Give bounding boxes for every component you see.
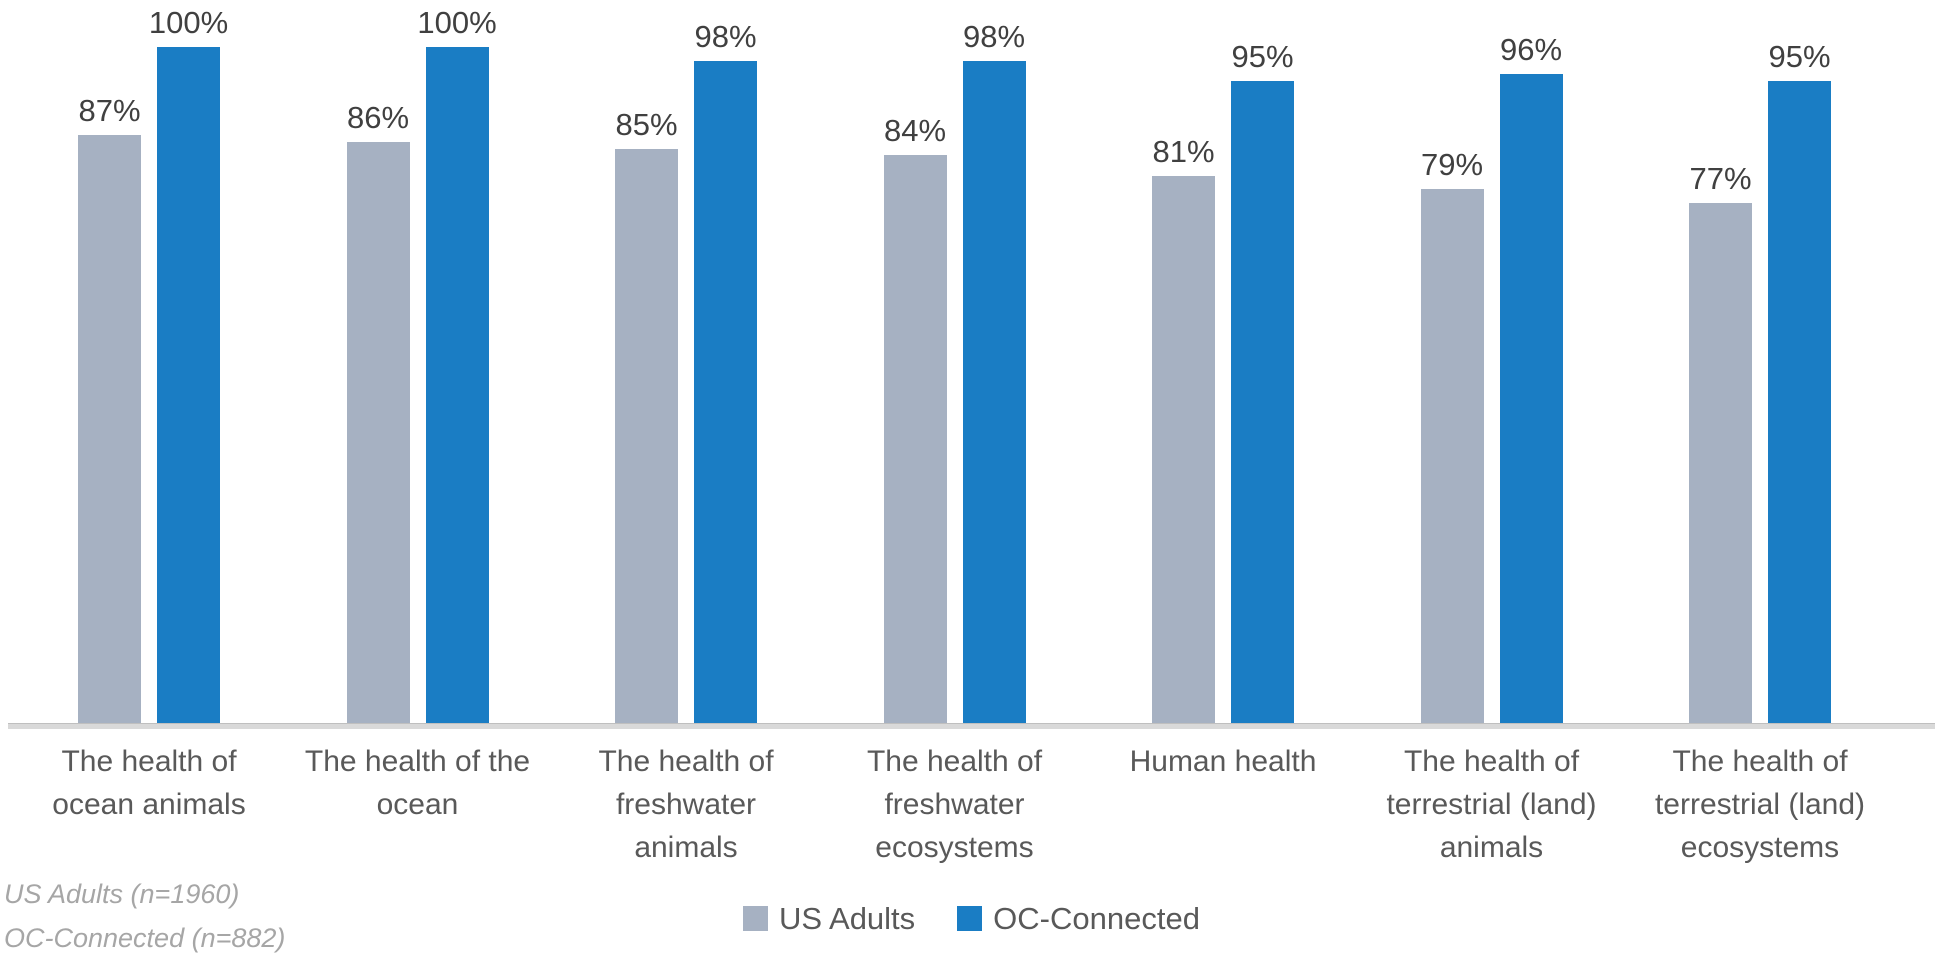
- legend-item-oc-connected[interactable]: OC-Connected: [957, 903, 1200, 934]
- category-label-line: ocean: [284, 783, 552, 826]
- bar-group: 85%98%: [615, 0, 757, 723]
- category-label-line: freshwater: [821, 783, 1089, 826]
- bar-group: 84%98%: [884, 0, 1026, 723]
- category-label-line: freshwater: [552, 783, 820, 826]
- category-label: The health ofocean animals: [15, 740, 283, 826]
- bar-us-adults[interactable]: 85%: [615, 149, 678, 723]
- category-label-line: The health of: [1358, 740, 1626, 783]
- bar-value-label: 96%: [1500, 34, 1562, 65]
- bar-chart: 87%100%86%100%85%98%84%98%81%95%79%96%77…: [0, 0, 1943, 968]
- legend-swatch-icon: [743, 906, 768, 931]
- bar-group: 81%95%: [1152, 0, 1294, 723]
- bar-us-adults[interactable]: 84%: [884, 155, 947, 723]
- bar-oc-connected[interactable]: 95%: [1231, 81, 1294, 723]
- legend-label: US Adults: [779, 903, 915, 934]
- bar-value-label: 98%: [963, 21, 1025, 52]
- category-label-line: terrestrial (land): [1626, 783, 1894, 826]
- category-label: The health of theocean: [284, 740, 552, 826]
- bar-value-label: 86%: [347, 102, 409, 133]
- bar-oc-connected[interactable]: 96%: [1500, 74, 1563, 723]
- bar-value-label: 79%: [1421, 149, 1483, 180]
- category-label-line: The health of: [821, 740, 1089, 783]
- bar-value-label: 100%: [149, 7, 228, 38]
- legend-swatch-icon: [957, 906, 982, 931]
- category-label-line: terrestrial (land): [1358, 783, 1626, 826]
- bar-value-label: 95%: [1231, 41, 1293, 72]
- bar-value-label: 100%: [417, 7, 496, 38]
- bar-us-adults[interactable]: 86%: [347, 142, 410, 723]
- bar-group: 86%100%: [347, 0, 489, 723]
- category-label: The health ofterrestrial (land)animals: [1358, 740, 1626, 869]
- bar-value-label: 77%: [1689, 163, 1751, 194]
- category-label-line: The health of the: [284, 740, 552, 783]
- category-label-line: The health of: [1626, 740, 1894, 783]
- bar-oc-connected[interactable]: 98%: [694, 61, 757, 723]
- category-axis-line: [8, 723, 1935, 729]
- bar-group: 79%96%: [1421, 0, 1563, 723]
- category-label-line: The health of: [552, 740, 820, 783]
- bar-value-label: 84%: [884, 115, 946, 146]
- category-axis-labels: The health ofocean animalsThe health of …: [0, 740, 1943, 880]
- chart-legend: US AdultsOC-Connected: [0, 903, 1943, 934]
- bar-value-label: 95%: [1768, 41, 1830, 72]
- bar-group: 87%100%: [78, 0, 220, 723]
- plot-area: 87%100%86%100%85%98%84%98%81%95%79%96%77…: [0, 0, 1943, 723]
- bar-group: 77%95%: [1689, 0, 1831, 723]
- category-label-line: The health of: [15, 740, 283, 783]
- category-label: The health offreshwateranimals: [552, 740, 820, 869]
- bar-us-adults[interactable]: 81%: [1152, 176, 1215, 723]
- bar-us-adults[interactable]: 77%: [1689, 203, 1752, 723]
- bar-value-label: 98%: [694, 21, 756, 52]
- category-label: The health ofterrestrial (land)ecosystem…: [1626, 740, 1894, 869]
- bar-value-label: 85%: [615, 109, 677, 140]
- bar-oc-connected[interactable]: 100%: [426, 47, 489, 723]
- bar-value-label: 81%: [1152, 136, 1214, 167]
- category-label: Human health: [1089, 740, 1357, 783]
- legend-item-us-adults[interactable]: US Adults: [743, 903, 915, 934]
- bar-oc-connected[interactable]: 100%: [157, 47, 220, 723]
- bar-value-label: 87%: [78, 95, 140, 126]
- category-label: The health offreshwaterecosystems: [821, 740, 1089, 869]
- category-label-line: animals: [552, 826, 820, 869]
- bar-us-adults[interactable]: 87%: [78, 135, 141, 723]
- category-label-line: ecosystems: [1626, 826, 1894, 869]
- category-label-line: animals: [1358, 826, 1626, 869]
- category-label-line: ocean animals: [15, 783, 283, 826]
- category-label-line: ecosystems: [821, 826, 1089, 869]
- bar-oc-connected[interactable]: 95%: [1768, 81, 1831, 723]
- legend-label: OC-Connected: [993, 903, 1200, 934]
- category-label-line: Human health: [1089, 740, 1357, 783]
- bar-oc-connected[interactable]: 98%: [963, 61, 1026, 723]
- bar-us-adults[interactable]: 79%: [1421, 189, 1484, 723]
